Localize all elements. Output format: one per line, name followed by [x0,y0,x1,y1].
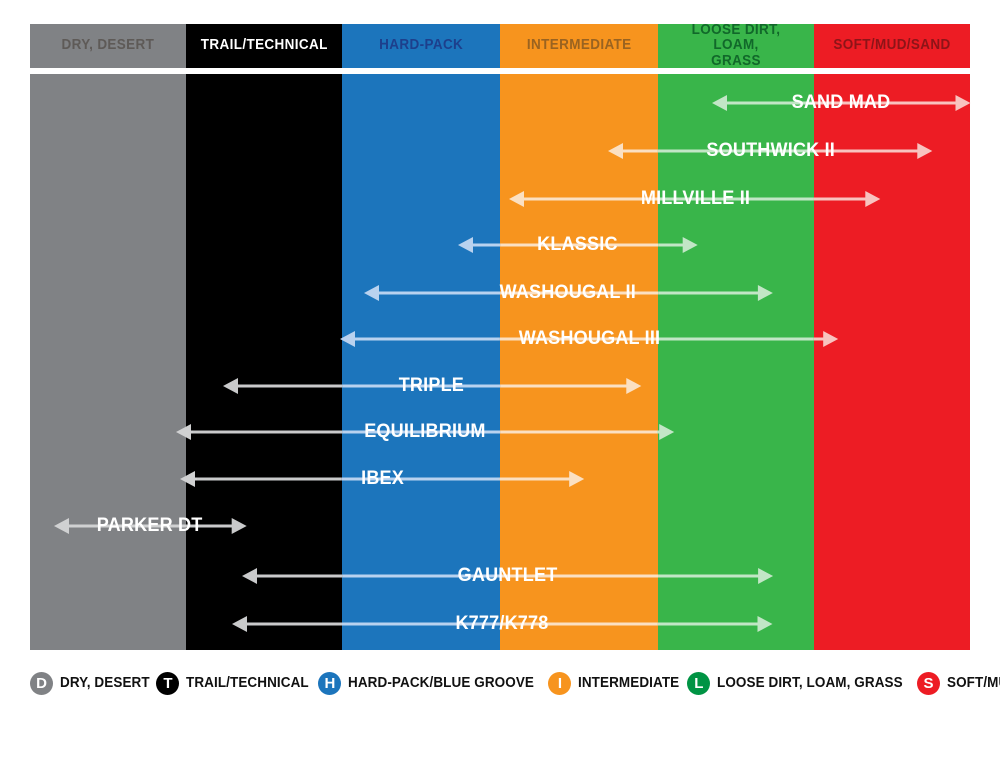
arrow-head-right [680,237,697,253]
arrow-head-left [364,285,381,301]
band-header-4: LOOSE DIRT, LOAM, GRASS [658,24,814,68]
arrow-head-right [229,518,246,534]
legend-badge-icon: T [156,672,179,695]
arrow-shaft-segment [500,431,658,434]
legend-item-s: SSOFT/MUD/SAND [917,672,1000,695]
band-header-0: DRY, DESERT [30,24,186,68]
arrow-shaft-segment [500,385,626,388]
terrain-legend: DDRY, DESERTTTRAIL/TECHNICALHHARD-PACK/B… [30,666,970,700]
arrow-shaft-segment [238,385,342,388]
legend-item-h: HHARD-PACK/BLUE GROOVE [318,672,548,695]
band-header-label: DRY, DESERT [62,38,155,53]
arrow-head-right [756,568,773,584]
legend-label: LOOSE DIRT, LOAM, GRASS [717,675,903,691]
legend-label: INTERMEDIATE [578,675,679,691]
arrow-shaft-segment [658,623,758,626]
tire-name-label: EQUILIBRIUM [355,421,495,443]
tire-row: IBEX [180,464,584,494]
arrow-shaft-segment [814,198,866,201]
tire-name-label: WASHOUGAL II [490,282,645,304]
tire-name-label: MILLVILLE II [631,188,759,210]
legend-badge-icon: S [917,672,940,695]
tire-rows: SAND MADSOUTHWICK IIMILLVILLE IIKLASSICW… [30,74,970,650]
legend-label: SOFT/MUD/SAND [947,675,1000,691]
band-header-label: INTERMEDIATE [527,38,632,53]
arrow-head-right [915,143,932,159]
arrow-head-right [953,95,970,111]
tire-name-label: SAND MAD [782,92,900,114]
arrow-shaft-segment [195,478,342,481]
legend-item-i: IINTERMEDIATE [548,672,687,695]
band-header-label: LOOSE DIRT, LOAM, GRASS [667,23,805,69]
arrow-shaft-segment [658,292,758,295]
arrow-head-right [864,191,881,207]
tire-name-label: IBEX [352,468,414,490]
legend-label: TRAIL/TECHNICAL [186,675,309,691]
arrow-head-left [712,95,729,111]
legend-item-t: TTRAIL/TECHNICAL [156,672,318,695]
tire-row: GAUNTLET [242,561,773,591]
tire-row: TRIPLE [223,371,641,401]
arrow-head-left [340,331,357,347]
arrow-shaft-segment [247,623,342,626]
tire-name-label: KLASSIC [528,234,628,256]
terrain-chart: DRY, DESERTTRAIL/TECHNICALHARD-PACKINTER… [0,0,1000,769]
tire-name-label: PARKER DT [87,515,212,537]
arrow-head-left [608,143,625,159]
band-header-1: TRAIL/TECHNICAL [186,24,342,68]
legend-badge-icon: D [30,672,53,695]
arrow-head-left [509,191,526,207]
tire-row: MILLVILLE II [509,184,880,214]
arrow-shaft-segment [473,244,500,247]
tire-row: K777/K778 [232,609,773,639]
tire-row: SAND MAD [712,88,971,118]
arrow-head-right [756,285,773,301]
band-header-2: HARD-PACK [342,24,500,68]
legend-label: HARD-PACK/BLUE GROOVE [348,675,534,691]
arrow-shaft-segment [379,292,500,295]
arrow-shaft-segment [256,575,342,578]
arrow-head-left [242,568,259,584]
band-header-label: SOFT/MUD/SAND [833,38,950,53]
tire-name-label: K777/K778 [446,613,558,635]
tire-row: WASHOUGAL II [364,278,773,308]
arrow-shaft-segment [355,338,500,341]
arrow-shaft-segment [623,150,658,153]
tire-name-label: SOUTHWICK II [696,140,844,162]
legend-badge-icon: H [318,672,341,695]
tire-row: WASHOUGAL III [340,324,838,354]
band-header-label: TRAIL/TECHNICAL [201,38,328,53]
legend-badge-icon: L [687,672,710,695]
legend-item-d: DDRY, DESERT [30,672,156,695]
legend-label: DRY, DESERT [60,675,150,691]
tire-row: PARKER DT [54,511,247,541]
band-header-3: INTERMEDIATE [500,24,658,68]
arrow-head-left [458,237,475,253]
arrow-head-right [624,378,641,394]
tire-name-label: TRIPLE [390,375,474,397]
arrow-head-left [54,518,71,534]
arrow-shaft-segment [658,244,682,247]
legend-badge-icon: I [548,672,571,695]
band-header-5: SOFT/MUD/SAND [814,24,970,68]
arrow-shaft-segment [500,478,570,481]
tire-row: EQUILIBRIUM [176,417,674,447]
arrow-shaft-segment [658,575,758,578]
arrow-head-right [756,616,773,632]
tire-name-label: GAUNTLET [448,565,567,587]
arrow-shaft-segment [191,431,342,434]
arrow-shaft-segment [658,338,814,341]
arrow-head-right [568,471,585,487]
arrow-head-right [821,331,838,347]
band-header-label: HARD-PACK [379,38,463,53]
arrow-head-left [232,616,249,632]
arrow-head-left [180,471,197,487]
arrow-head-right [657,424,674,440]
tire-row: KLASSIC [458,230,698,260]
arrow-head-left [223,378,240,394]
arrow-head-left [176,424,193,440]
legend-item-l: LLOOSE DIRT, LOAM, GRASS [687,672,917,695]
tire-row: SOUTHWICK II [608,136,932,166]
tire-name-label: WASHOUGAL III [509,328,670,350]
